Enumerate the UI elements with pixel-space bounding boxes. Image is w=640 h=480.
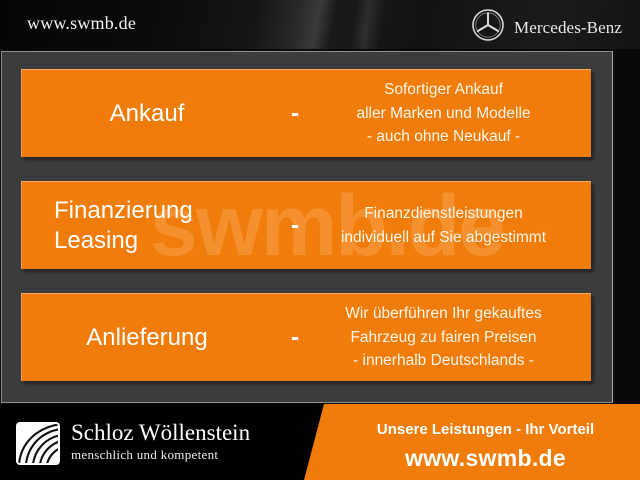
services-content-frame: Ankauf - Sofortiger Ankauf aller Marken …	[1, 51, 613, 403]
service-separator-dash: -	[272, 323, 318, 352]
header-sheen-decoration	[344, 0, 390, 49]
service-panel-anlieferung[interactable]: Anlieferung - Wir überführen Ihr gekauft…	[21, 293, 591, 381]
service-separator-dash: -	[272, 211, 318, 240]
service-description-line: Finanzdienstleistungen	[318, 202, 569, 226]
footer-claim: Unsere Leistungen - Ihr Vorteil	[343, 421, 628, 438]
dealer-logo[interactable]: Schloz Wöllenstein menschlich und kompet…	[15, 420, 250, 471]
service-description-line: Fahrzeug zu fairen Preisen	[318, 326, 569, 350]
slide-canvas: www.swmb.de Mercedes-Benz	[0, 0, 640, 480]
service-title-line: Finanzierung	[54, 196, 272, 225]
service-panel-ankauf[interactable]: Ankauf - Sofortiger Ankauf aller Marken …	[21, 69, 591, 157]
service-description: Wir überführen Ihr gekauftes Fahrzeug zu…	[318, 302, 591, 373]
mercedes-benz-wordmark: Mercedes-Benz	[514, 18, 622, 38]
service-description-line: individuell auf Sie abgestimmt	[318, 226, 569, 250]
footer-website-url[interactable]: www.swmb.de	[343, 445, 628, 472]
road-lines-logo-icon	[15, 420, 61, 471]
service-description-line: Sofortiger Ankauf	[318, 78, 569, 102]
service-title: Ankauf	[22, 99, 272, 128]
dealer-name: Schloz Wöllenstein	[71, 420, 250, 445]
service-panel-finanzierung-leasing[interactable]: swmb.de Finanzierung Leasing - Finanzdie…	[21, 181, 591, 269]
service-description: Finanzdienstleistungen individuell auf S…	[318, 202, 591, 249]
header-website-url: www.swmb.de	[27, 13, 136, 34]
service-title: Finanzierung Leasing	[22, 196, 272, 255]
service-description-line: aller Marken und Modelle	[318, 102, 569, 126]
page-header: www.swmb.de Mercedes-Benz	[0, 0, 640, 49]
service-description-line: - auch ohne Neukauf -	[318, 125, 569, 149]
service-title-line: Leasing	[54, 226, 272, 255]
mercedes-benz-logo: Mercedes-Benz	[471, 8, 622, 47]
page-footer: Schloz Wöllenstein menschlich und kompet…	[0, 404, 640, 480]
service-separator-dash: -	[272, 99, 318, 128]
dealer-tagline: menschlich und kompetent	[71, 447, 250, 463]
service-description: Sofortiger Ankauf aller Marken und Model…	[318, 78, 591, 149]
mercedes-star-icon	[471, 8, 505, 47]
service-description-line: Wir überführen Ihr gekauftes	[318, 302, 569, 326]
service-description-line: - innerhalb Deutschlands -	[318, 349, 569, 373]
service-title: Anlieferung	[22, 323, 272, 352]
